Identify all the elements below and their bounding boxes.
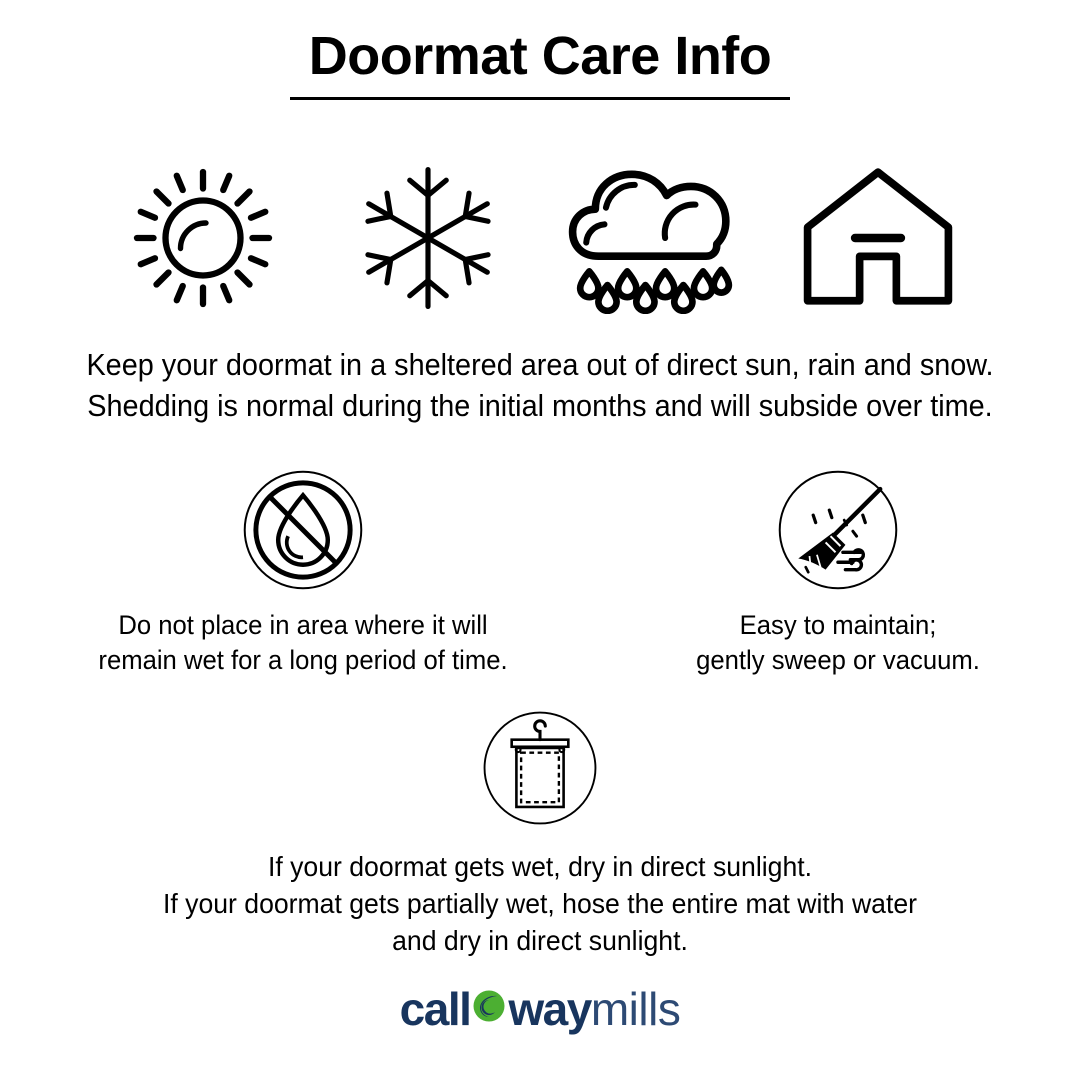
sun-icon xyxy=(128,163,278,318)
care-column-no-water: Do not place in area where it will remai… xyxy=(73,470,533,678)
brand-logo-part-way: way xyxy=(508,986,590,1032)
brand-logo-part-call: call xyxy=(400,986,471,1032)
title-block: Doormat Care Info xyxy=(0,28,1080,100)
intro-line-2: Shedding is normal during the initial mo… xyxy=(38,385,1042,426)
dry-caption-line-3: and dry in direct sunlight. xyxy=(27,922,1053,959)
weather-icon-row xyxy=(0,150,1080,330)
care-caption-sweep-line-2: gently sweep or vacuum. xyxy=(620,643,1057,678)
intro-line-1: Keep your doormat in a sheltered area ou… xyxy=(38,344,1042,385)
care-columns: Do not place in area where it will remai… xyxy=(0,470,1080,670)
weather-cell-house xyxy=(765,150,990,330)
no-water-icon-wrap xyxy=(73,470,533,595)
no-water-icon xyxy=(241,468,365,597)
brand-logo-text: call way mills xyxy=(400,985,681,1032)
weather-cell-rain xyxy=(540,150,765,330)
dry-section: If your doormat gets wet, dry in direct … xyxy=(0,710,1080,960)
care-caption-sweep: Easy to maintain; gently sweep or vacuum… xyxy=(620,608,1057,678)
house-icon xyxy=(798,163,958,318)
care-caption-sweep-line-1: Easy to maintain; xyxy=(620,608,1057,643)
rain-cloud-icon xyxy=(565,162,741,319)
brand-logo: call way mills xyxy=(0,985,1080,1032)
hang-dry-icon-wrap xyxy=(0,710,1080,830)
broom-icon xyxy=(776,468,900,597)
care-caption-no-water-line-2: remain wet for a long period of time. xyxy=(85,643,522,678)
snowflake-icon xyxy=(352,162,504,319)
care-caption-no-water: Do not place in area where it will remai… xyxy=(85,608,522,678)
dry-caption: If your doormat gets wet, dry in direct … xyxy=(27,848,1053,960)
weather-cell-snow xyxy=(315,150,540,330)
title-underline-divider xyxy=(290,97,790,100)
dry-caption-line-1: If your doormat gets wet, dry in direct … xyxy=(27,848,1053,885)
dry-caption-line-2: If your doormat gets partially wet, hose… xyxy=(27,885,1053,922)
broom-icon-wrap xyxy=(608,470,1068,595)
weather-cell-sun xyxy=(90,150,315,330)
care-caption-no-water-line-1: Do not place in area where it will xyxy=(85,608,522,643)
brand-logo-part-mills: mills xyxy=(591,986,680,1032)
doormat-care-info-page: Doormat Care Info xyxy=(0,0,1080,1080)
green-swirl-o-icon xyxy=(469,986,509,1033)
page-title: Doormat Care Info xyxy=(0,28,1080,85)
hang-dry-icon xyxy=(481,709,599,832)
intro-paragraph: Keep your doormat in a sheltered area ou… xyxy=(38,344,1042,426)
care-column-sweep: Easy to maintain; gently sweep or vacuum… xyxy=(608,470,1068,678)
